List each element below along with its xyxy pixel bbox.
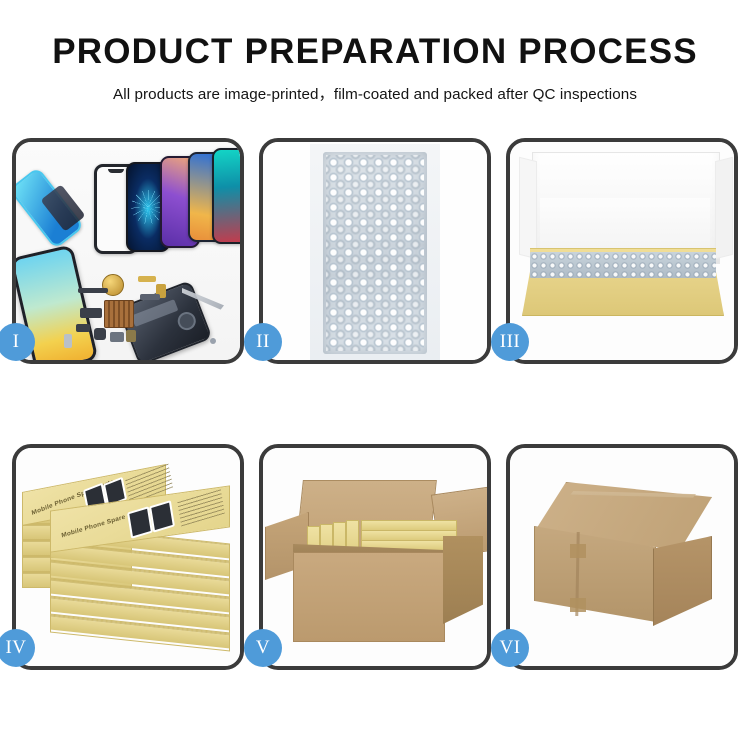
bubble-pattern-offset	[326, 155, 424, 351]
header: PRODUCT PREPARATION PROCESS All products…	[0, 0, 750, 104]
bubble-wrap-pouch	[323, 152, 427, 354]
step-panel-3: III	[506, 138, 738, 364]
photo-bubble-wrap-pouch	[263, 142, 487, 360]
carton-side-panel	[443, 536, 483, 624]
bubble-wrap-in-box	[530, 252, 716, 278]
screw-part	[210, 338, 216, 344]
small-part-b	[94, 328, 106, 340]
step-badge-2: II	[244, 323, 282, 361]
infographic-page: PRODUCT PREPARATION PROCESS All products…	[0, 0, 750, 750]
step-panel-5: V	[259, 444, 491, 670]
phone-notch	[108, 169, 124, 173]
photo-sealed-shipping-carton	[510, 448, 734, 666]
small-part-f	[140, 294, 160, 300]
step-panel-2: II	[259, 138, 491, 364]
carton-tab-bottom	[570, 598, 586, 612]
page-subtitle: All products are image-printed，film-coat…	[0, 82, 750, 104]
step-panel-1: I	[12, 138, 244, 364]
phone-screen-teal-red	[212, 148, 240, 244]
page-title: PRODUCT PREPARATION PROCESS	[0, 34, 750, 71]
small-part-a	[76, 324, 90, 332]
connector-part	[80, 308, 102, 318]
photo-phone-screens-and-parts	[16, 142, 240, 360]
step-panel-6: VI	[506, 444, 738, 670]
carton-side-panel	[653, 536, 712, 626]
photo-stacked-inner-boxes: Mobile Phone Spare Parts	[16, 448, 240, 666]
step-badge-6: VI	[491, 629, 529, 667]
step-panel-4: Mobile Phone Spare Parts	[12, 444, 244, 670]
chip-grid-component	[104, 300, 134, 328]
bubble-pattern-small	[530, 252, 716, 278]
gold-connector-part	[138, 276, 156, 282]
carton-front-panel	[293, 552, 445, 642]
photo-open-shipping-carton	[263, 448, 487, 666]
carton-tab-top	[570, 544, 586, 558]
process-steps-grid: I II III	[12, 138, 738, 670]
step-badge-3: III	[491, 323, 529, 361]
step-badge-5: V	[244, 629, 282, 667]
small-part-e	[64, 334, 72, 348]
small-part-d	[126, 330, 136, 342]
small-part-c	[110, 332, 124, 342]
flex-cable-part	[78, 288, 108, 293]
box-stack: Mobile Phone Spare Parts	[22, 472, 240, 652]
photo-open-inner-box	[510, 142, 734, 360]
